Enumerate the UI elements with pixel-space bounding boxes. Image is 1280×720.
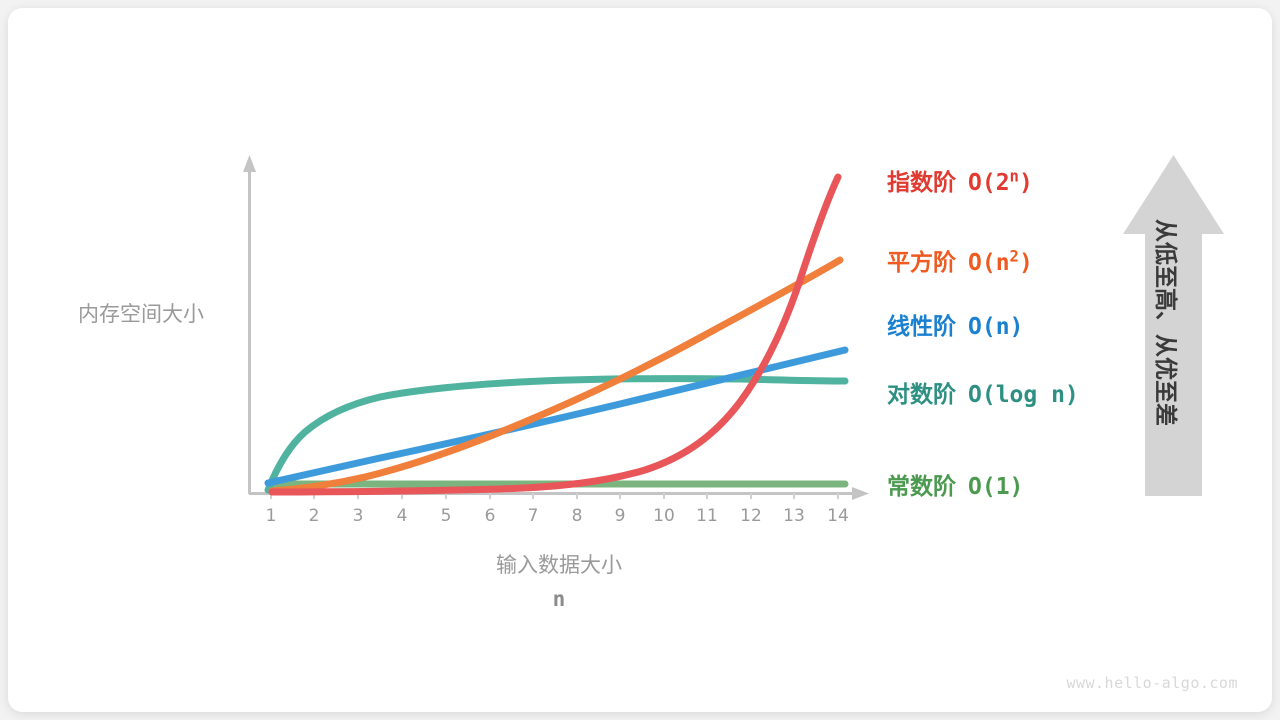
x-tick-label-13: 13 <box>779 506 809 526</box>
x-tick-label-8: 8 <box>562 506 592 526</box>
legend-item-name: 常数阶 <box>887 474 956 500</box>
quality-arrow-label: 从低至高、从优至差 <box>1151 219 1185 459</box>
y-axis-arrowhead <box>243 155 256 172</box>
legend-item-name: 平方阶 <box>887 250 956 276</box>
y-axis-label: 内存空间大小 <box>78 298 204 328</box>
legend-item-notation: O(n2) <box>968 250 1033 276</box>
watermark: www.hello-algo.com <box>1066 674 1238 692</box>
legend-item-notation: O(1) <box>968 474 1023 500</box>
curve-exponential <box>272 177 838 492</box>
legend-item-1: 平方阶O(n2) <box>887 243 1033 277</box>
legend-item-3: 对数阶O(log n) <box>887 375 1079 409</box>
x-tick-label-3: 3 <box>343 506 373 526</box>
complexity-chart <box>0 0 1280 720</box>
curve-logarithmic <box>268 379 845 490</box>
x-tick-label-7: 7 <box>518 506 548 526</box>
legend-item-0: 指数阶O(2n) <box>887 163 1033 197</box>
x-axis-label: 输入数据大小 <box>249 549 869 579</box>
legend-item-notation: O(n) <box>968 314 1023 340</box>
x-tick-label-5: 5 <box>431 506 461 526</box>
legend-item-name: 对数阶 <box>887 382 956 408</box>
x-axis-arrowhead <box>852 487 869 500</box>
x-tick-label-12: 12 <box>736 506 766 526</box>
x-tick-label-11: 11 <box>692 506 722 526</box>
x-tick-label-1: 1 <box>256 506 286 526</box>
x-tick-label-9: 9 <box>605 506 635 526</box>
legend-item-name: 线性阶 <box>887 314 956 340</box>
x-tick-label-6: 6 <box>475 506 505 526</box>
x-axis-label-variable: n <box>249 587 869 611</box>
legend-item-notation: O(2n) <box>968 170 1033 196</box>
legend-item-notation: O(log n) <box>968 382 1079 408</box>
legend-item-name: 指数阶 <box>887 170 956 196</box>
x-tick-label-2: 2 <box>299 506 329 526</box>
x-tick-label-14: 14 <box>823 506 853 526</box>
legend-item-4: 常数阶O(1) <box>887 467 1023 501</box>
x-tick-label-10: 10 <box>649 506 679 526</box>
x-tick-label-4: 4 <box>387 506 417 526</box>
legend-item-2: 线性阶O(n) <box>887 307 1023 341</box>
